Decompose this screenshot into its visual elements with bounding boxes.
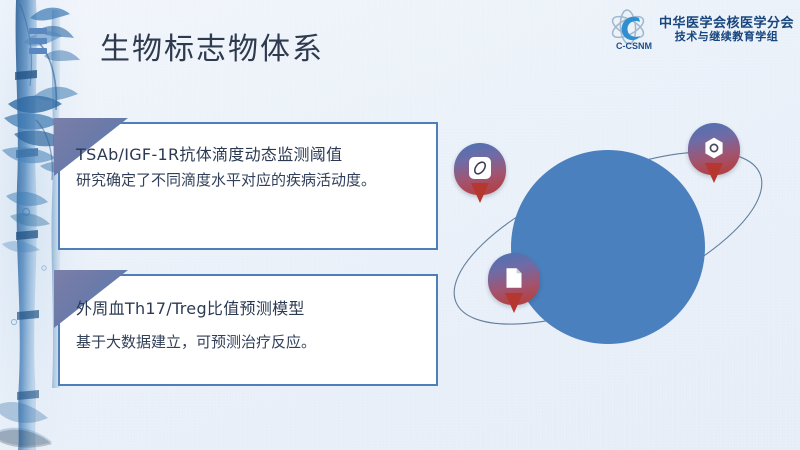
atom-orbital-logo-icon: C-CSNM [607,8,653,52]
organization-name-block: 中华医学会核医学分会 技术与继续教育学组 [659,15,794,45]
organization-logo: C-CSNM 中华医学会核医学分会 技术与继续教育学组 [607,8,794,52]
hamburger-bar-1 [29,28,47,34]
card-heading: 外周血Th17/Treg比值预测模型 [76,298,422,321]
pen-edit-icon [467,155,493,181]
pin-document[interactable] [488,253,540,315]
page-title: 生物标志物体系 [100,24,324,68]
hamburger-icon[interactable] [29,28,47,54]
org-name-line2: 技术与继续教育学组 [659,31,794,45]
card-body: 外周血Th17/Treg比值预测模型 基于大数据建立，可预测治疗反应。 [76,298,422,353]
pin-nut[interactable] [688,123,740,185]
decorative-graphic [440,105,800,450]
org-name-line1: 中华医学会核医学分会 [659,15,794,31]
card-subtext: 研究确定了不同滴度水平对应的疾病活动度。 [76,169,422,192]
card-subtext: 基于大数据建立，可预测治疗反应。 [76,331,422,354]
hamburger-bar-2 [29,38,47,44]
hamburger-bar-3 [29,48,47,54]
slide-canvas: 生物标志物体系 C-CSNM 中华医学会核医学分会 技术与继续教育学组 [0,0,800,450]
pin-edit[interactable] [454,143,506,205]
document-icon [501,265,527,291]
card-heading: TSAb/IGF-1R抗体滴度动态监测阈值 [76,144,422,167]
content-card-1[interactable]: TSAb/IGF-1R抗体滴度动态监测阈值 研究确定了不同滴度水平对应的疾病活动… [58,122,438,250]
hex-nut-icon [701,135,727,161]
svg-text:C-CSNM: C-CSNM [616,41,652,51]
card-body: TSAb/IGF-1R抗体滴度动态监测阈值 研究确定了不同滴度水平对应的疾病活动… [76,144,422,191]
large-blue-circle [511,150,705,344]
content-card-2[interactable]: 外周血Th17/Treg比值预测模型 基于大数据建立，可预测治疗反应。 [58,274,438,386]
